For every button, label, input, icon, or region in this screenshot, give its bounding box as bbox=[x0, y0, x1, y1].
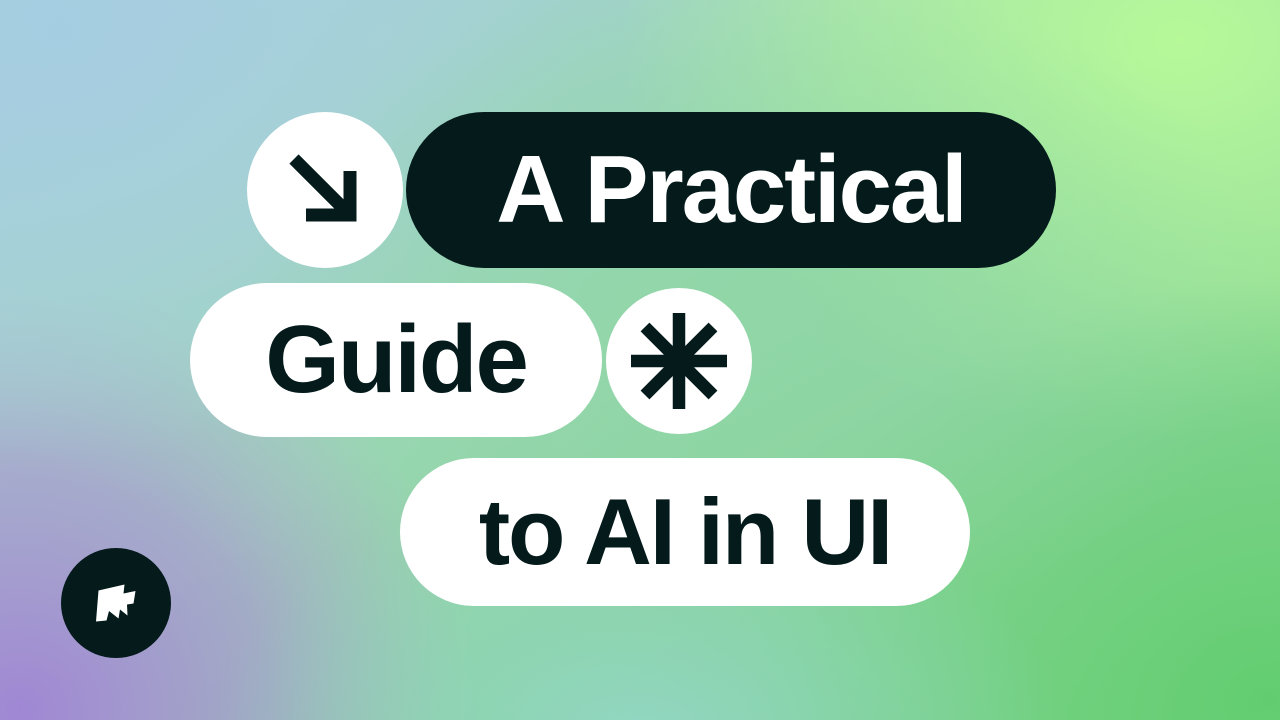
headline-line-3-pill: to AI in UI bbox=[400, 458, 970, 606]
headline-line-3-text: to AI in UI bbox=[479, 485, 891, 579]
arrow-down-right-icon bbox=[282, 147, 368, 233]
arrow-down-right-badge bbox=[247, 112, 403, 268]
arrow-down-right-glyph bbox=[282, 147, 368, 233]
asterisk-badge bbox=[606, 288, 752, 434]
lightning-flag-mark-icon bbox=[84, 571, 148, 635]
headline-line-2-text: Guide bbox=[265, 312, 526, 408]
asterisk-star-icon bbox=[625, 307, 733, 415]
headline-line-1-pill: A Practical bbox=[406, 112, 1056, 268]
brand-logo[interactable] bbox=[61, 548, 171, 658]
headline-line-2-pill: Guide bbox=[190, 283, 602, 437]
poster-stage: A Practical Guide to AI in UI bbox=[0, 0, 1280, 720]
lightning-flag-mark-glyph bbox=[84, 571, 148, 635]
asterisk-star-glyph bbox=[625, 307, 733, 415]
headline-line-1-text: A Practical bbox=[496, 142, 965, 238]
